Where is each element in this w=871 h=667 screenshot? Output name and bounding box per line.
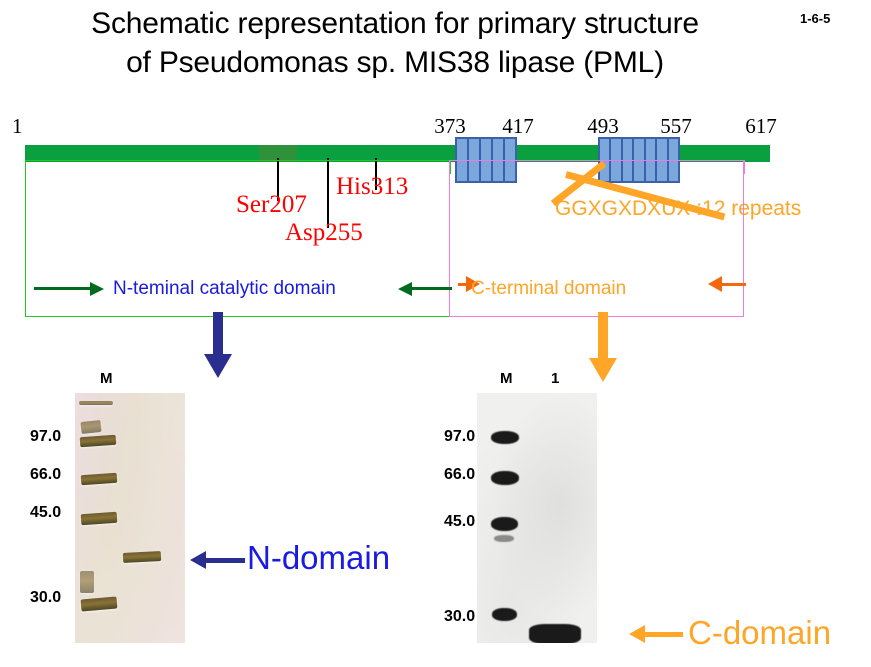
gel-right-band-97 [491, 431, 519, 444]
position-label-417: 417 [502, 114, 534, 139]
position-label-493: 493 [587, 114, 619, 139]
n-domain-caption-arrowhead [190, 551, 206, 569]
gel-right-band-45 [491, 517, 518, 531]
position-label-1: 1 [12, 114, 23, 139]
gel-right-mw-66: 66.0 [444, 466, 475, 484]
gel-left-mw-66: 66.0 [30, 466, 61, 484]
n-domain-caption: N-domain [247, 539, 390, 577]
c-domain-caption-arrow-shaft [645, 632, 683, 637]
gel-left-mw-97: 97.0 [30, 428, 61, 446]
gel-right-band-sample-c-domain [529, 624, 581, 643]
tick-617 [744, 160, 745, 174]
n-domain-span-line-left [34, 287, 92, 290]
gel-left-band-faint [80, 420, 101, 434]
gel-left-band-66 [81, 473, 118, 485]
c-domain-caption: C-domain [688, 614, 831, 652]
position-label-373: 373 [434, 114, 466, 139]
n-domain-caption-arrow-shaft [205, 558, 245, 563]
title-line-1: Schematic representation for primary str… [0, 4, 790, 43]
c-terminal-domain-label: C-terminal domain [471, 278, 626, 300]
gel-right-mw-45: 45.0 [444, 513, 475, 531]
gel-right-band-30 [492, 608, 517, 621]
n-domain-span-line-right [412, 287, 452, 290]
gel-left-mw-30: 30.0 [30, 589, 61, 607]
n-domain-down-arrow-shaft [213, 312, 223, 356]
gel-right-lane-label-1: 1 [551, 370, 559, 387]
gel-image-left [75, 393, 185, 643]
gel-left-mw-45: 45.0 [30, 504, 61, 522]
gel-left-lane-label-M: M [100, 370, 113, 387]
gel-left-band-97 [80, 435, 117, 447]
n-terminal-domain-label: N-teminal catalytic domain [113, 278, 336, 300]
gel-image-right [477, 393, 597, 643]
gel-left-band-30 [81, 596, 118, 611]
gel-right-band-45-shadow [494, 535, 514, 542]
position-label-557: 557 [660, 114, 692, 139]
gel-right-lane-label-M: M [500, 370, 513, 387]
n-domain-down-arrowhead [204, 354, 232, 378]
c-domain-span-line-right [722, 283, 746, 286]
gel-right-mw-97: 97.0 [444, 428, 475, 446]
c-domain-arrowhead-left [708, 276, 722, 292]
gel-right-mw-30: 30.0 [444, 608, 475, 626]
gel-left-band-45 [81, 512, 118, 525]
n-domain-arrowhead-right [90, 282, 104, 296]
n-domain-arrowhead-left [398, 282, 412, 296]
c-domain-down-arrowhead [589, 358, 617, 382]
page-title: Schematic representation for primary str… [0, 4, 790, 82]
gel-left-band-smear [80, 571, 94, 593]
gel-left-band-sample-n-domain [123, 551, 161, 563]
gel-right-band-66 [491, 471, 519, 485]
title-line-2: of Pseudomonas sp. MIS38 lipase (PML) [0, 43, 790, 82]
slide-number: 1-6-5 [800, 11, 830, 26]
gel-left-band-top [79, 401, 113, 405]
c-domain-caption-arrowhead [629, 625, 645, 643]
position-label-617: 617 [745, 114, 777, 139]
c-domain-down-arrow-shaft [598, 312, 608, 360]
